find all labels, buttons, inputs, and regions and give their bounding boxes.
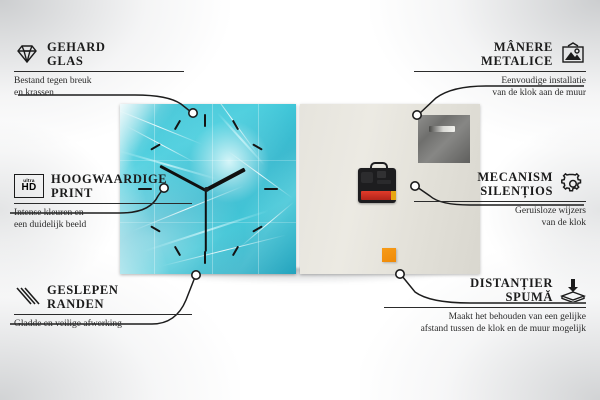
ultra-hd-large-label: HD (21, 183, 36, 193)
callout-divider (414, 71, 586, 72)
battery (361, 191, 391, 200)
gear-icon (560, 172, 586, 196)
callout-divider (14, 203, 192, 204)
callout-title: HOOGWAARDIGE PRINT (51, 172, 167, 200)
callout-subtitle: Intense kleuren en een duidelijk beeld (14, 208, 192, 231)
callout-divider (14, 314, 192, 315)
callout-divider (414, 201, 586, 202)
callout-divider (384, 307, 586, 308)
hanger-plate (418, 115, 470, 163)
callout-header: ultra HD HOOGWAARDIGE PRINT (14, 172, 192, 200)
clock-center-hub (204, 187, 209, 192)
hanger-slot (429, 126, 455, 132)
picture-frame-hanger-icon (560, 42, 586, 66)
callout-title: MÂNERE METALICE (481, 40, 553, 68)
clock-mechanism (358, 168, 396, 203)
callout-geslepen-randen[interactable]: GESLEPEN RANDEN Gladde en veilige afwerk… (14, 283, 192, 331)
callout-divider (14, 71, 184, 72)
arrow-into-pad-icon (560, 278, 586, 302)
callout-header: GESLEPEN RANDEN (14, 283, 192, 311)
callout-manere-metalice[interactable]: MÂNERE METALICE Eenvoudige installatie v… (414, 40, 586, 99)
callout-header: GEHARD GLAS (14, 40, 184, 68)
callout-title: MECANISM SILENȚIOS (477, 170, 553, 198)
callout-header: MECANISM SILENȚIOS (414, 170, 586, 198)
callout-mecanism-silentios[interactable]: MECANISM SILENȚIOS Geruisloze wijzers va… (414, 170, 586, 229)
callout-title: GESLEPEN RANDEN (47, 283, 119, 311)
callout-gehard-glas[interactable]: GEHARD GLAS Bestand tegen breuk en krass… (14, 40, 184, 99)
callout-distantier-spuma[interactable]: DISTANȚIER SPUMĂ Maakt het behouden van … (384, 276, 586, 335)
callout-subtitle: Eenvoudige installatie van de klok aan d… (414, 76, 586, 99)
callout-title: DISTANȚIER SPUMĂ (470, 276, 553, 304)
diagonal-lines-icon (14, 285, 40, 309)
callout-subtitle: Bestand tegen breuk en krassen (14, 76, 184, 99)
battery-terminal (391, 191, 396, 200)
foam-spacer (382, 248, 396, 262)
callout-subtitle: Gladde en veilige afwerking (14, 319, 192, 331)
callout-subtitle: Geruisloze wijzers van de klok (414, 206, 586, 229)
callout-title: GEHARD GLAS (47, 40, 105, 68)
diamond-icon (14, 42, 40, 66)
callout-hoogwaardige-print[interactable]: ultra HD HOOGWAARDIGE PRINT Intense kleu… (14, 172, 192, 231)
callout-header: DISTANȚIER SPUMĂ (384, 276, 586, 304)
callout-subtitle: Maakt het behouden van een gelijke afsta… (384, 312, 586, 335)
callout-header: MÂNERE METALICE (414, 40, 586, 68)
clock-second-hand (205, 190, 207, 252)
infographic-canvas: GEHARD GLAS Bestand tegen breuk en krass… (0, 0, 600, 400)
ultra-hd-icon: ultra HD (14, 174, 44, 198)
